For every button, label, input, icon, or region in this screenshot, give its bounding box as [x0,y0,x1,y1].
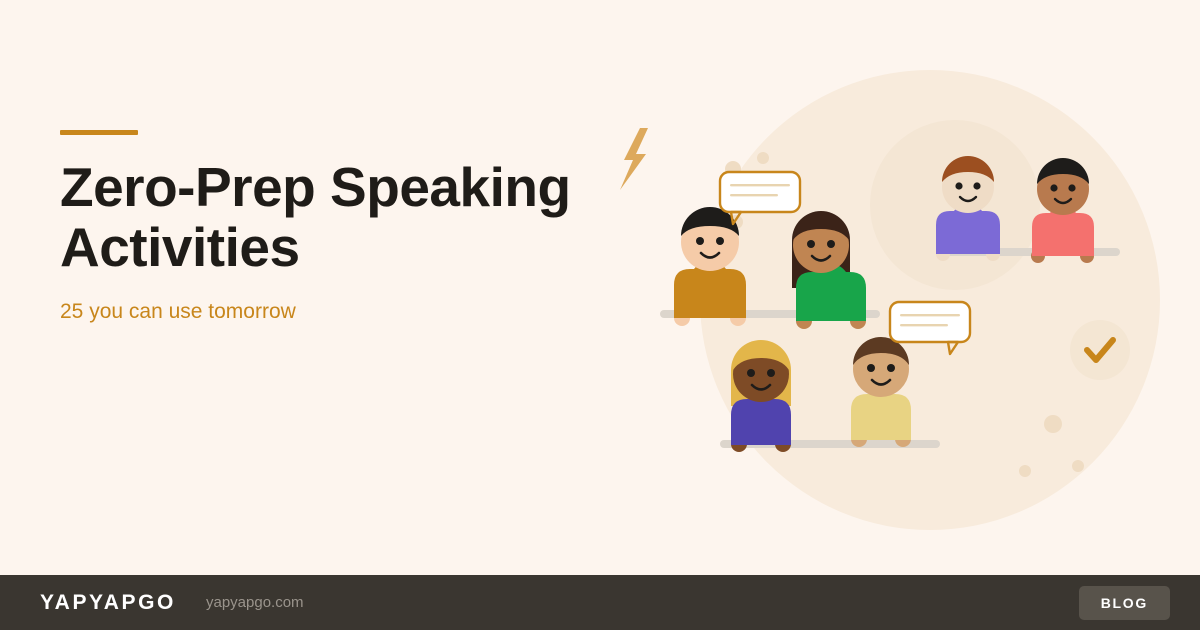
eye [1050,184,1057,191]
eye [887,364,895,372]
person-indigo [731,340,791,452]
site-url: yapyapgo.com [206,594,304,611]
check-badge-circle [1070,320,1130,380]
eye [973,182,980,189]
dot [1019,465,1031,477]
dot [1072,460,1084,472]
eye [867,364,875,372]
page-subtitle: 25 you can use tomorrow [60,299,600,325]
bubble-text-line [730,194,778,196]
brand-logo: YAPYAPGO [40,591,176,615]
bubble-text-line [900,324,948,326]
dot [757,152,769,164]
eye [767,369,775,377]
social-share-card: Zero-Prep Speaking Activities 25 you can… [0,0,1200,630]
bubble-text-line [730,184,790,186]
eye [955,182,962,189]
blog-button[interactable]: BLOG [1079,586,1170,620]
hero-text-column: Zero-Prep Speaking Activities 25 you can… [60,130,600,325]
lightning-bolt-icon [620,128,648,190]
eye [747,369,755,377]
bubble-text-line [900,314,960,316]
dot [1044,415,1062,433]
eye [827,240,835,248]
eye [807,240,815,248]
eye [696,237,704,245]
eye [716,237,724,245]
footer-bar: YAPYAPGO yapyapgo.com BLOG [0,575,1200,630]
eye [1068,184,1075,191]
page-title: Zero-Prep Speaking Activities [60,157,580,277]
accent-bar [60,130,138,135]
check-badge [1070,320,1130,380]
classroom-illustration [600,30,1200,560]
